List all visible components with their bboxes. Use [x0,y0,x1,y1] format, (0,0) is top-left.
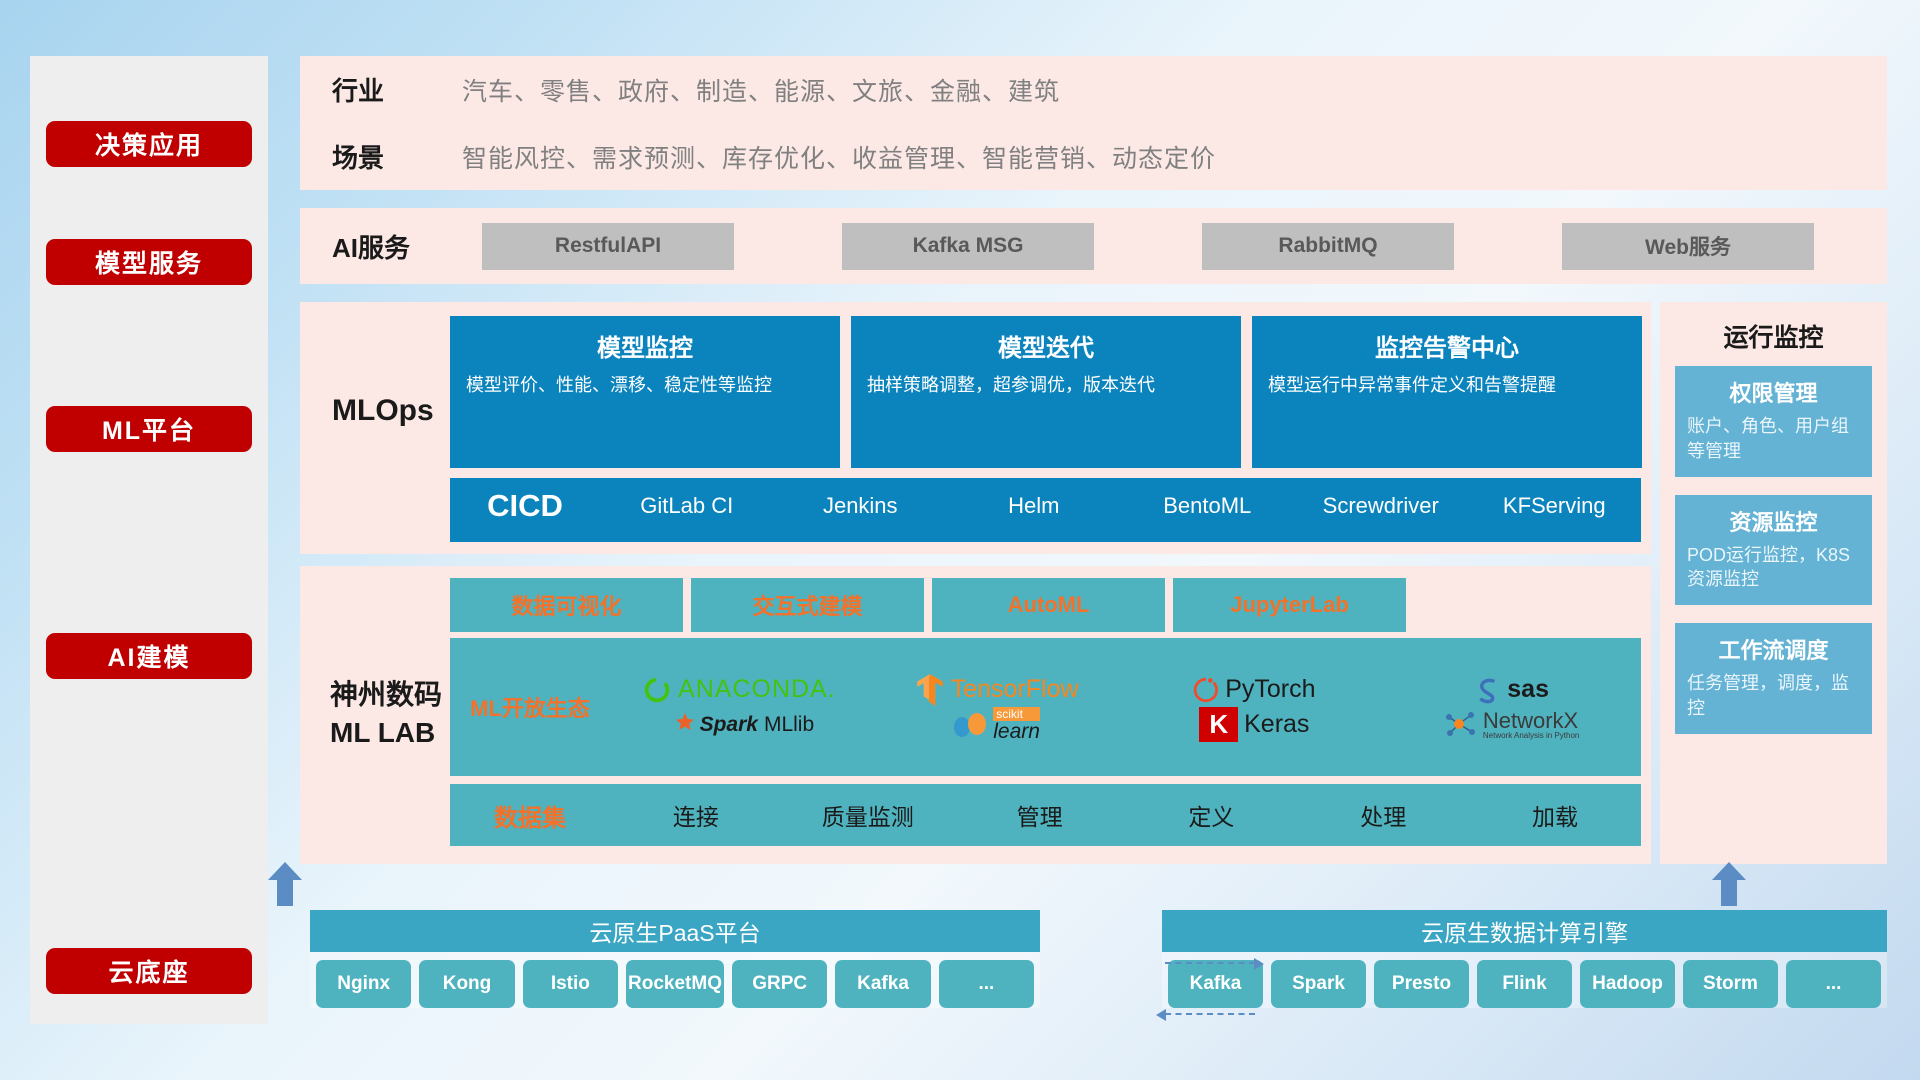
cloud-chip-flink[interactable]: Flink [1477,960,1572,1008]
logo-label: ANACONDA. [678,675,836,704]
ai-service-band: AI服务 RestfulAPI Kafka MSG RabbitMQ Web服务 [300,208,1887,284]
cloud-chip-more[interactable]: ... [939,960,1034,1008]
arrow-paas-to-data-engine [1165,962,1255,964]
logo-pytorch: PyTorch [1193,675,1315,705]
rail-item-model-service[interactable]: 模型服务 [46,239,252,285]
mlops-card-model-iteration[interactable]: 模型迭代 抽样策略调整，超参调优，版本迭代 [851,316,1241,468]
ai-service-chip-web-service[interactable]: Web服务 [1562,223,1814,270]
architecture-diagram: 行业 汽车、零售、政府、制造、能源、文旅、金融、建筑 场景 智能风控、需求预测、… [300,0,1920,1080]
logo-networkx: NetworkX Network Analysis in Python [1445,709,1580,740]
cloud-data-engine-chip-list: Kafka Spark Presto Flink Hadoop Storm ..… [1162,952,1887,1008]
rail-label: 决策应用 [95,126,203,162]
ml-lab-label-line2: ML LAB [330,714,442,752]
monitor-card-permission[interactable]: 权限管理 账户、角色、用户组等管理 [1675,366,1872,477]
logo-anaconda: ANACONDA. [642,675,836,705]
rail-item-ml-platform[interactable]: ML平台 [46,406,252,452]
card-title: 模型迭代 [867,328,1225,363]
mlops-label: MLOps [332,394,434,428]
mlops-band: MLOps 模型监控 模型评价、性能、漂移、稳定性等监控 模型迭代 抽样策略调整… [300,302,1651,554]
dataset-item-management[interactable]: 管理 [954,798,1126,832]
dataset-title: 数据集 [450,798,610,833]
cloud-chip-spark[interactable]: Spark [1271,960,1366,1008]
ai-service-label: AI服务 [332,228,462,265]
mlops-card-list: 模型监控 模型评价、性能、漂移、稳定性等监控 模型迭代 抽样策略调整，超参调优，… [450,316,1642,468]
dataset-item-connect[interactable]: 连接 [610,798,782,832]
monitor-card-workflow[interactable]: 工作流调度 任务管理，调度，监控 [1675,623,1872,734]
card-title: 监控告警中心 [1268,328,1626,363]
runtime-monitoring-title: 运行监控 [1660,302,1887,366]
mlops-card-alert-center[interactable]: 监控告警中心 模型运行中异常事件定义和告警提醒 [1252,316,1642,468]
cicd-bar: CICD GitLab CI Jenkins Helm BentoML Scre… [450,478,1641,542]
ml-lab-label-line1: 神州数码 [330,676,442,714]
ai-service-chip-restfulapi[interactable]: RestfulAPI [482,223,734,270]
logo-spark-mllib: Spark MLlib [664,711,815,739]
tool-automl[interactable]: AutoML [932,578,1165,632]
rail-label: ML平台 [102,411,196,447]
ai-service-chip-kafka-msg[interactable]: Kafka MSG [842,223,1094,270]
rail-item-cloud-base[interactable]: 云底座 [46,948,252,994]
rail-item-decision-apps[interactable]: 决策应用 [46,121,252,167]
logo-label: TensorFlow [951,675,1079,704]
logo-label: learn [993,721,1040,742]
card-desc: 账户、角色、用户组等管理 [1687,414,1860,464]
business-layer-band: 行业 汽车、零售、政府、制造、能源、文旅、金融、建筑 场景 智能风控、需求预测、… [300,56,1887,190]
dataset-item-definition[interactable]: 定义 [1125,798,1297,832]
cloud-chip-kafka[interactable]: Kafka [1168,960,1263,1008]
tool-interactive-modeling[interactable]: 交互式建模 [691,578,924,632]
pytorch-icon [1193,675,1219,705]
cicd-item-kfserving[interactable]: KFServing [1468,478,1642,520]
scenario-label: 场景 [332,138,462,175]
dataset-bar: 数据集 连接 质量监测 管理 定义 处理 加载 [450,784,1641,846]
arrow-data-engine-to-paas [1165,1013,1255,1015]
ml-ecosystem-label: ML开放生态 [450,691,610,723]
logo-prefix: scikit [993,707,1040,721]
rail-label: 模型服务 [95,244,203,280]
tool-data-visualization[interactable]: 数据可视化 [450,578,683,632]
arrow-up-data-engine-to-platform [1712,862,1746,906]
card-desc: 抽样策略调整，超参调优，版本迭代 [867,373,1225,399]
logo-label: PyTorch [1225,675,1315,704]
cicd-item-bentoml[interactable]: BentoML [1121,478,1295,520]
cloud-data-engine-group: 云原生数据计算引擎 Kafka Spark Presto Flink Hadoo… [1162,910,1887,1008]
cicd-item-gitlab-ci[interactable]: GitLab CI [600,478,774,520]
ml-lab-tool-list: 数据可视化 交互式建模 AutoML JupyterLab [450,578,1406,632]
ml-lab-band: 神州数码 ML LAB 数据可视化 交互式建模 AutoML JupyterLa… [300,566,1651,864]
ml-ecosystem-logo-grid: ANACONDA. TensorFlow PyTorch [610,672,1641,742]
logo-keras: K Keras [1199,707,1309,742]
logo-label: Keras [1244,710,1309,739]
runtime-monitoring-panel: 运行监控 权限管理 账户、角色、用户组等管理 资源监控 POD运行监控，K8S资… [1660,302,1887,864]
left-layer-rail: 决策应用 模型服务 ML平台 AI建模 云底座 [30,56,268,1024]
cloud-chip-kafka[interactable]: Kafka [835,960,930,1008]
cloud-chip-istio[interactable]: Istio [523,960,618,1008]
dataset-item-processing[interactable]: 处理 [1297,798,1469,832]
tensorflow-icon [915,673,945,707]
cloud-chip-storm[interactable]: Storm [1683,960,1778,1008]
logo-tensorflow: TensorFlow [915,673,1079,707]
cicd-title: CICD [450,478,600,524]
scenario-row: 场景 智能风控、需求预测、库存优化、收益管理、智能营销、动态定价 [300,123,1887,190]
logo-label: sas [1507,675,1549,704]
monitor-card-resource[interactable]: 资源监控 POD运行监控，K8S资源监控 [1675,495,1872,606]
dataset-item-quality-monitoring[interactable]: 质量监测 [782,798,954,832]
cloud-paas-chip-list: Nginx Kong Istio RocketMQ GRPC Kafka ... [310,952,1040,1008]
logo-sas: sas [1475,675,1549,704]
industry-row: 行业 汽车、零售、政府、制造、能源、文旅、金融、建筑 [300,56,1887,123]
card-desc: 任务管理，调度，监控 [1687,671,1860,721]
cloud-chip-kong[interactable]: Kong [419,960,514,1008]
keras-icon: K [1199,707,1238,742]
card-title: 模型监控 [466,328,824,363]
logo-label: MLlib [764,713,814,737]
card-desc: POD运行监控，K8S资源监控 [1687,543,1860,593]
cloud-paas-header: 云原生PaaS平台 [310,910,1040,952]
cloud-chip-presto[interactable]: Presto [1374,960,1469,1008]
ml-lab-label: 神州数码 ML LAB [330,676,442,752]
logo-label: NetworkX [1483,709,1580,732]
industry-values: 汽车、零售、政府、制造、能源、文旅、金融、建筑 [462,72,1060,108]
spark-icon [664,711,694,739]
mlops-card-model-monitoring[interactable]: 模型监控 模型评价、性能、漂移、稳定性等监控 [450,316,840,468]
tool-jupyterlab[interactable]: JupyterLab [1173,578,1406,632]
industry-label: 行业 [332,71,462,108]
cloud-chip-nginx[interactable]: Nginx [316,960,411,1008]
cicd-item-screwdriver[interactable]: Screwdriver [1294,478,1468,520]
scenario-values: 智能风控、需求预测、库存优化、收益管理、智能营销、动态定价 [462,139,1216,175]
card-desc: 模型评价、性能、漂移、稳定性等监控 [466,373,824,399]
cloud-chip-grpc[interactable]: GRPC [732,960,827,1008]
logo-sublabel: Network Analysis in Python [1483,732,1580,740]
rail-label: 云底座 [108,953,189,989]
dataset-item-loading[interactable]: 加载 [1469,798,1641,832]
card-desc: 模型运行中异常事件定义和告警提醒 [1268,373,1626,399]
anaconda-icon [642,675,672,705]
arrow-up-paas-to-platform [268,862,302,906]
logo-prefix: Spark [700,713,758,737]
card-title: 权限管理 [1687,376,1860,408]
cloud-paas-group: 云原生PaaS平台 Nginx Kong Istio RocketMQ GRPC… [310,910,1040,1008]
cloud-chip-hadoop[interactable]: Hadoop [1580,960,1675,1008]
ml-ecosystem-box: ML开放生态 ANACONDA. TensorFlow [450,638,1641,776]
logo-scikit-learn: scikit learn [953,707,1040,742]
cloud-data-engine-header: 云原生数据计算引擎 [1162,910,1887,952]
card-title: 资源监控 [1687,505,1860,537]
ai-service-chip-rabbitmq[interactable]: RabbitMQ [1202,223,1454,270]
cloud-chip-more[interactable]: ... [1786,960,1881,1008]
rail-label: AI建模 [107,638,190,674]
cicd-item-jenkins[interactable]: Jenkins [774,478,948,520]
ai-service-chip-list: RestfulAPI Kafka MSG RabbitMQ Web服务 [462,223,1887,270]
scikit-icon [953,710,987,740]
networkx-icon [1445,709,1477,739]
cicd-item-helm[interactable]: Helm [947,478,1121,520]
rail-item-ai-modeling[interactable]: AI建模 [46,633,252,679]
cloud-chip-rocketmq[interactable]: RocketMQ [626,960,724,1008]
card-title: 工作流调度 [1687,633,1860,665]
sas-icon [1475,676,1501,704]
